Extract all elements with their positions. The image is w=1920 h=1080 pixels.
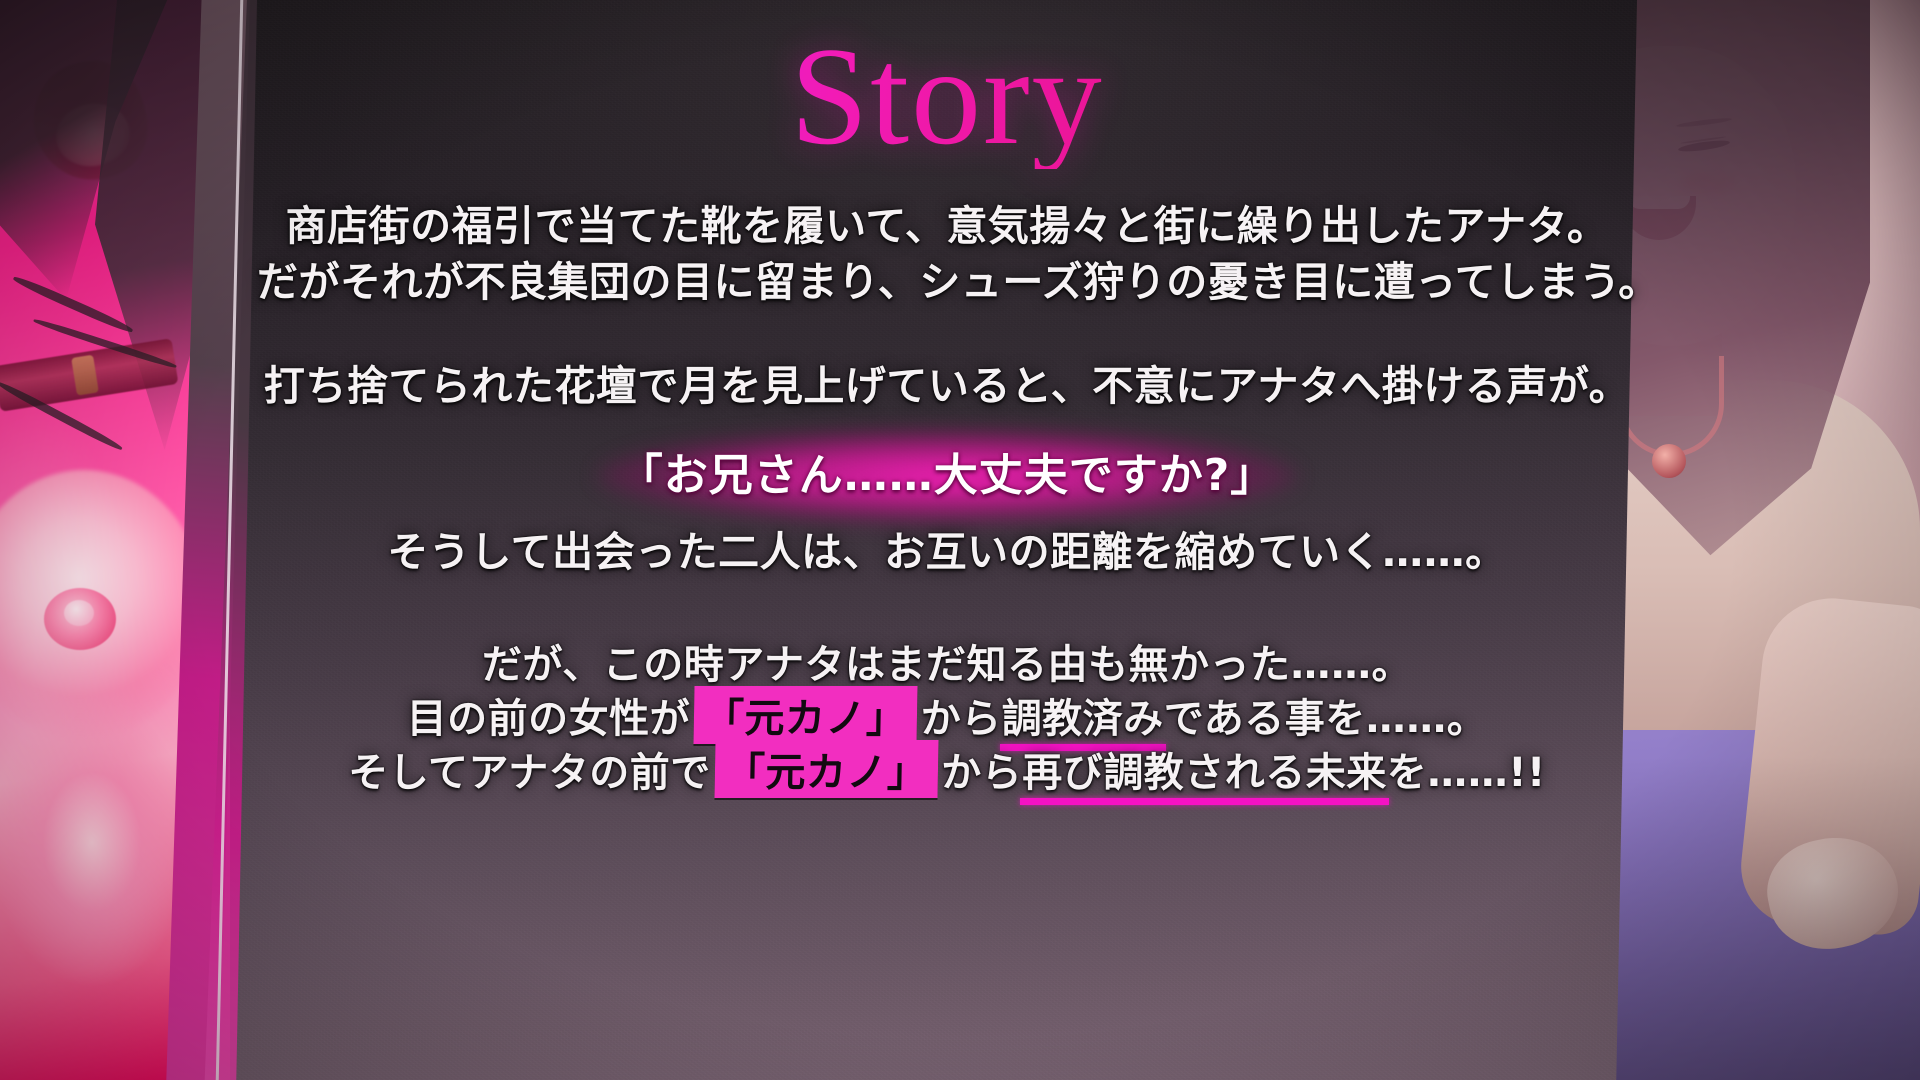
p4l2-segment-a: 目の前の女性が — [407, 696, 691, 742]
story-panel-content: Story 商店街の福引で当てた靴を履いて、意気揚々と街に繰り出したアナタ。 だ… — [257, 0, 1637, 1080]
underline-trained-2: 再び調教される未来 — [1022, 740, 1387, 798]
story-paragraph-4-line-3: そしてアナタの前で「元カノ」から再び調教される未来を……!! — [257, 740, 1637, 798]
quote-text: 「お兄さん……大丈夫ですか?」 — [619, 430, 1276, 522]
page-title: Story — [257, 26, 1637, 169]
p4l3-segment-a: そしてアナタの前で — [348, 750, 711, 796]
highlight-ex-girlfriend-2: 「元カノ」 — [714, 740, 938, 798]
highlight-ex-girlfriend-1: 「元カノ」 — [694, 686, 918, 744]
story-quote-line: 「お兄さん……大丈夫ですか?」 — [257, 430, 1637, 522]
story-paragraph-1-line-2: だがそれが不良集団の目に留まり、シューズ狩りの憂き目に遭ってしまう。 — [257, 248, 1637, 308]
story-paragraph-3-line-1: そうして出会った二人は、お互いの距離を縮めていく……。 — [257, 518, 1637, 578]
story-paragraph-2-line-1: 打ち捨てられた花壇で月を見上げていると、不意にアナタへ掛ける声が。 — [257, 352, 1637, 412]
p4l3-segment-b: から — [941, 750, 1022, 796]
story-page: Story 商店街の福引で当てた靴を履いて、意気揚々と街に繰り出したアナタ。 だ… — [0, 0, 1920, 1080]
story-paragraph-4-line-1: だが、この時アナタはまだ知る由も無かった……。 — [257, 632, 1637, 690]
story-paragraph-4-line-2: 目の前の女性が「元カノ」から調教済みである事を……。 — [257, 686, 1637, 744]
p4l2-segment-c: である事を……。 — [1164, 696, 1488, 742]
story-paragraph-1-line-1: 商店街の福引で当てた靴を履いて、意気揚々と街に繰り出したアナタ。 — [257, 192, 1637, 252]
p4l3-segment-c: を……!! — [1387, 750, 1546, 796]
p4l2-segment-b: から — [921, 696, 1002, 742]
underline-trained-1: 調教済み — [1002, 686, 1164, 744]
